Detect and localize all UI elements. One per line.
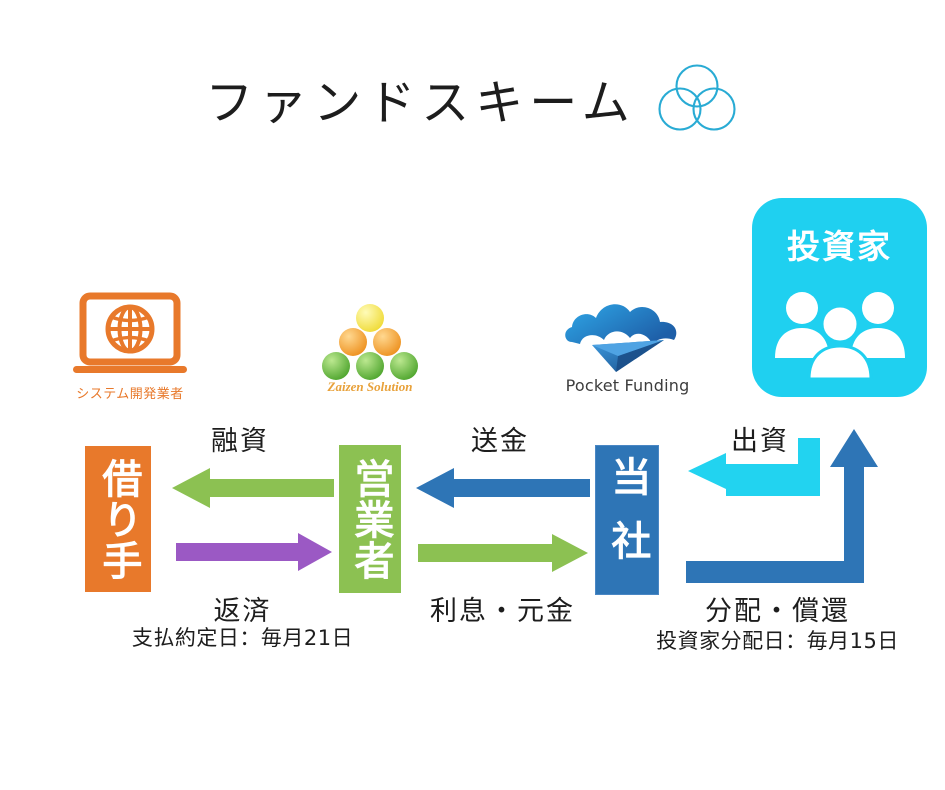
entity-label-company: 当社: [605, 456, 650, 584]
three-people-icon: [765, 280, 915, 380]
flow-label-loan: 融資: [170, 419, 310, 458]
investor-card[interactable]: 投資家: [752, 198, 927, 397]
flow-label-remittance: 送金: [430, 419, 570, 458]
entity-label-borrower: 借り手: [96, 458, 141, 581]
entity-label-operator: 営業者: [348, 458, 393, 581]
entity-box-company[interactable]: 当社: [595, 445, 659, 595]
flow-sublabel-repayment: 支払約定日：毎月21日: [110, 622, 375, 652]
arrow-interest: [418, 534, 590, 572]
flow-label-interest: 利息・元金: [415, 589, 590, 628]
entity-box-operator[interactable]: 営業者: [339, 445, 401, 593]
flow-label-investment: 出資: [690, 419, 830, 458]
diagram-canvas: ファンドスキーム 投資家: [0, 0, 945, 790]
flow-label-distribution: 分配・償還: [690, 589, 865, 628]
flow-sublabel-distribution: 投資家分配日：毎月15日: [625, 625, 930, 655]
arrow-loan: [170, 468, 334, 508]
page-title-row: ファンドスキーム: [0, 62, 945, 134]
partner-logo-system-developer: システム開発業者: [55, 290, 205, 408]
partner-label-pocket-funding: Pocket Funding: [560, 376, 695, 395]
arrow-repayment: [176, 533, 334, 571]
partner-logo-zaizen-solution: Zaizen Solution: [315, 303, 425, 403]
partner-label-system-developer: システム開発業者: [55, 383, 205, 402]
partner-label-zaizen-solution: Zaizen Solution: [315, 379, 425, 395]
page-title: ファンドスキーム: [205, 63, 636, 133]
partner-logo-pocket-funding: Pocket Funding: [560, 298, 695, 403]
arrow-remittance: [414, 468, 590, 508]
entity-box-borrower[interactable]: 借り手: [85, 446, 151, 592]
venn-logo: [654, 63, 740, 133]
investor-label: 投資家: [787, 220, 892, 268]
